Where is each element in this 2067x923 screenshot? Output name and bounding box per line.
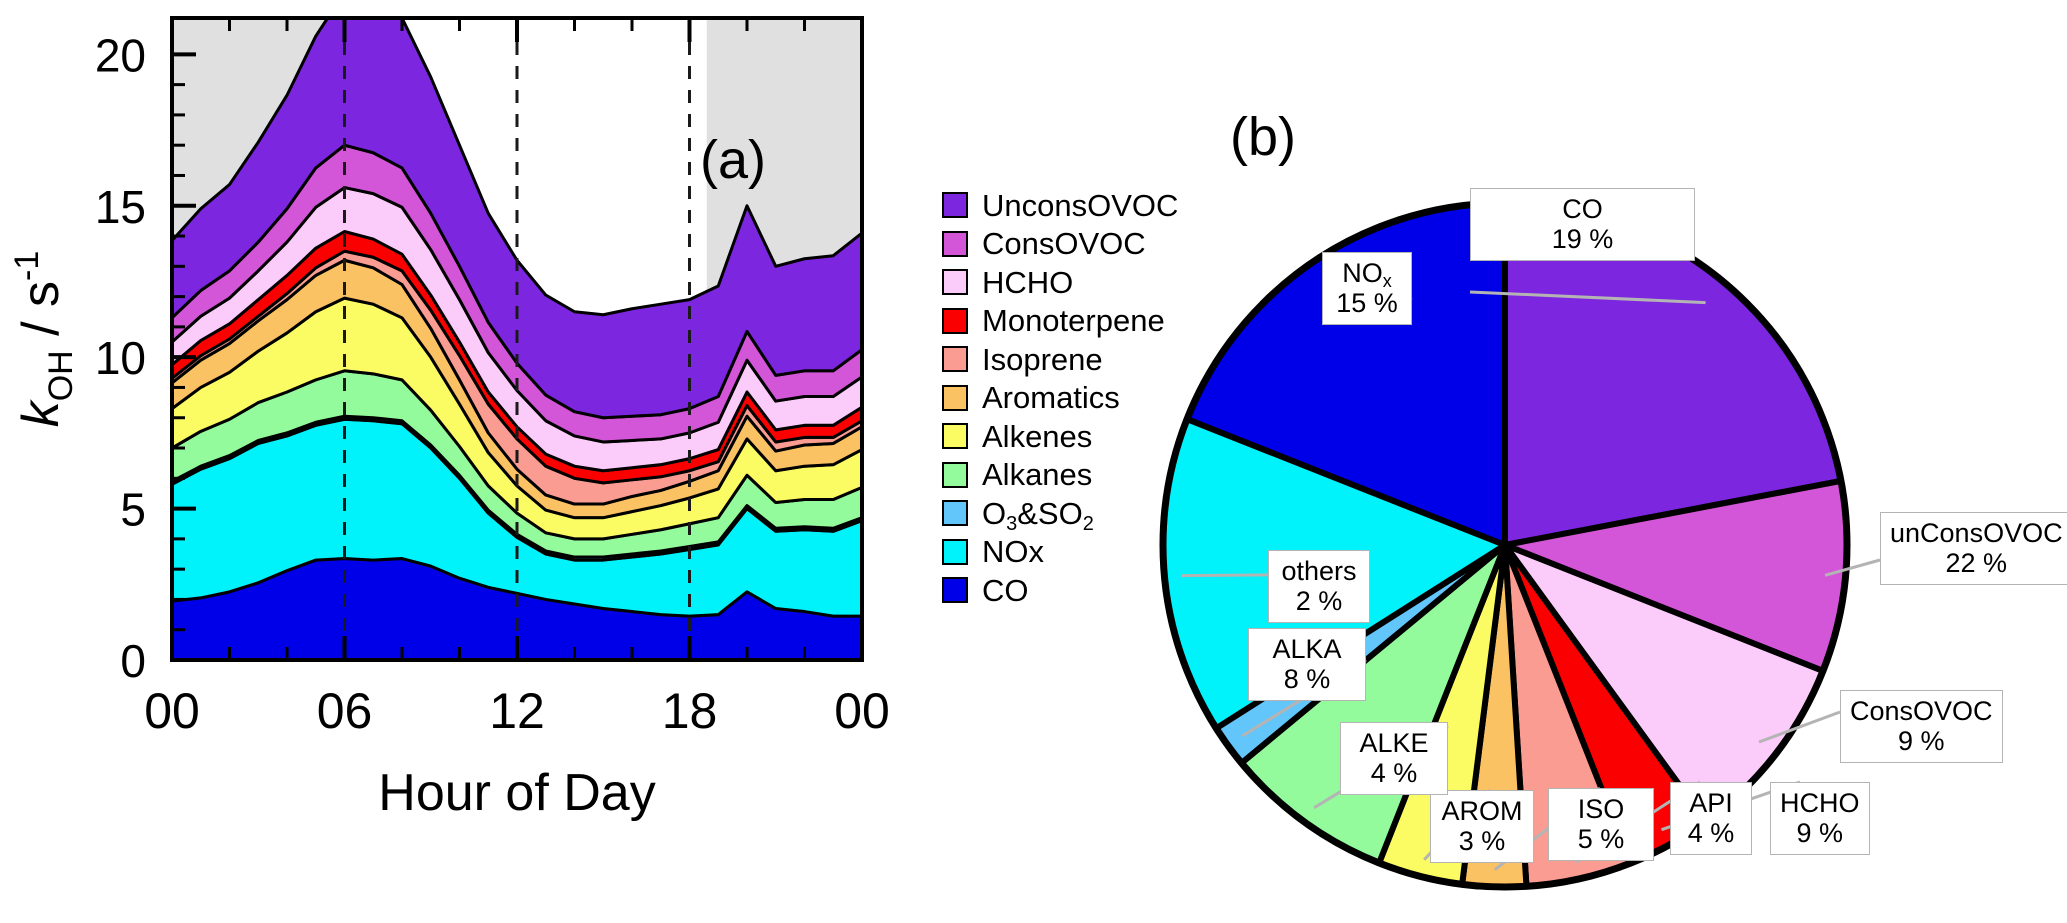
pie-callout-percent: 15 % bbox=[1332, 288, 1402, 318]
pie-callout-unConsOVOC: unConsOVOC22 % bbox=[1880, 512, 2067, 585]
pie-callout-HCHO: HCHO9 % bbox=[1770, 782, 1870, 855]
pie-callout-percent: 8 % bbox=[1258, 664, 1356, 694]
panel-b-pie: (b) CO19 %unConsOVOC22 %ConsOVOC9 %HCHO9… bbox=[960, 0, 2067, 923]
pie-callout-name: ConsOVOC bbox=[1850, 696, 1993, 726]
pie-callout-NOx: NOx15 % bbox=[1322, 252, 1412, 325]
x-tick-label-2: 12 bbox=[489, 683, 545, 739]
panel-a-tag: (a) bbox=[700, 130, 766, 190]
pie-callout-name: CO bbox=[1480, 194, 1685, 224]
x-axis-title: Hour of Day bbox=[378, 764, 655, 822]
y-tick-label-0: 0 bbox=[120, 635, 146, 687]
pie-callout-name: unConsOVOC bbox=[1890, 518, 2063, 548]
y-tick-label-3: 15 bbox=[95, 181, 146, 233]
stacked-area-chart: 051015200006121800Hour of DaykOH / s-1(a… bbox=[0, 0, 960, 923]
pie-chart: (b) bbox=[960, 0, 2067, 923]
pie-callout-others: others2 % bbox=[1268, 550, 1370, 623]
pie-callout-name: others bbox=[1278, 556, 1360, 586]
pie-callout-name: ISO bbox=[1558, 794, 1644, 824]
pie-callout-name: HCHO bbox=[1780, 788, 1860, 818]
pie-callout-ALKA: ALKA8 % bbox=[1248, 628, 1366, 701]
x-tick-label-0: 00 bbox=[144, 683, 200, 739]
y-tick-label-2: 10 bbox=[95, 332, 146, 384]
pie-callout-percent: 9 % bbox=[1850, 726, 1993, 756]
y-tick-label-4: 20 bbox=[95, 29, 146, 81]
pie-callout-ISO: ISO5 % bbox=[1548, 788, 1654, 861]
pie-callout-percent: 3 % bbox=[1440, 826, 1524, 856]
x-tick-label-3: 18 bbox=[662, 683, 718, 739]
pie-callout-AROM: AROM3 % bbox=[1430, 790, 1534, 863]
pie-callout-name: ALKE bbox=[1350, 728, 1438, 758]
pie-callout-name: ALKA bbox=[1258, 634, 1356, 664]
pie-callout-percent: 22 % bbox=[1890, 548, 2063, 578]
pie-callout-percent: 2 % bbox=[1278, 586, 1360, 616]
x-tick-label-4: 00 bbox=[834, 683, 890, 739]
pie-callout-API: API4 % bbox=[1670, 782, 1752, 855]
panel-b-tag: (b) bbox=[1230, 107, 1296, 167]
pie-callout-percent: 9 % bbox=[1780, 818, 1860, 848]
pie-callout-name: API bbox=[1680, 788, 1742, 818]
x-tick-label-1: 06 bbox=[317, 683, 373, 739]
pie-callout-percent: 4 % bbox=[1680, 818, 1742, 848]
pie-callout-ALKE: ALKE4 % bbox=[1340, 722, 1448, 795]
pie-callout-name: NOx bbox=[1332, 258, 1402, 288]
pie-callout-name: AROM bbox=[1440, 796, 1524, 826]
svg-text:kOH / s-1: kOH / s-1 bbox=[8, 251, 80, 428]
pie-callout-percent: 5 % bbox=[1558, 824, 1644, 854]
area-layers bbox=[172, 0, 862, 660]
pie-callout-percent: 19 % bbox=[1480, 224, 1685, 254]
y-tick-label-1: 5 bbox=[120, 484, 146, 536]
y-axis-title: kOH / s-1 bbox=[8, 251, 80, 428]
pie-callout-ConsOVOC: ConsOVOC9 % bbox=[1840, 690, 2003, 763]
pie-callout-CO: CO19 % bbox=[1470, 188, 1695, 261]
figure-root: 051015200006121800Hour of DaykOH / s-1(a… bbox=[0, 0, 2067, 923]
panel-a-timeseries: 051015200006121800Hour of DaykOH / s-1(a… bbox=[0, 0, 960, 923]
pie-callout-percent: 4 % bbox=[1350, 758, 1438, 788]
